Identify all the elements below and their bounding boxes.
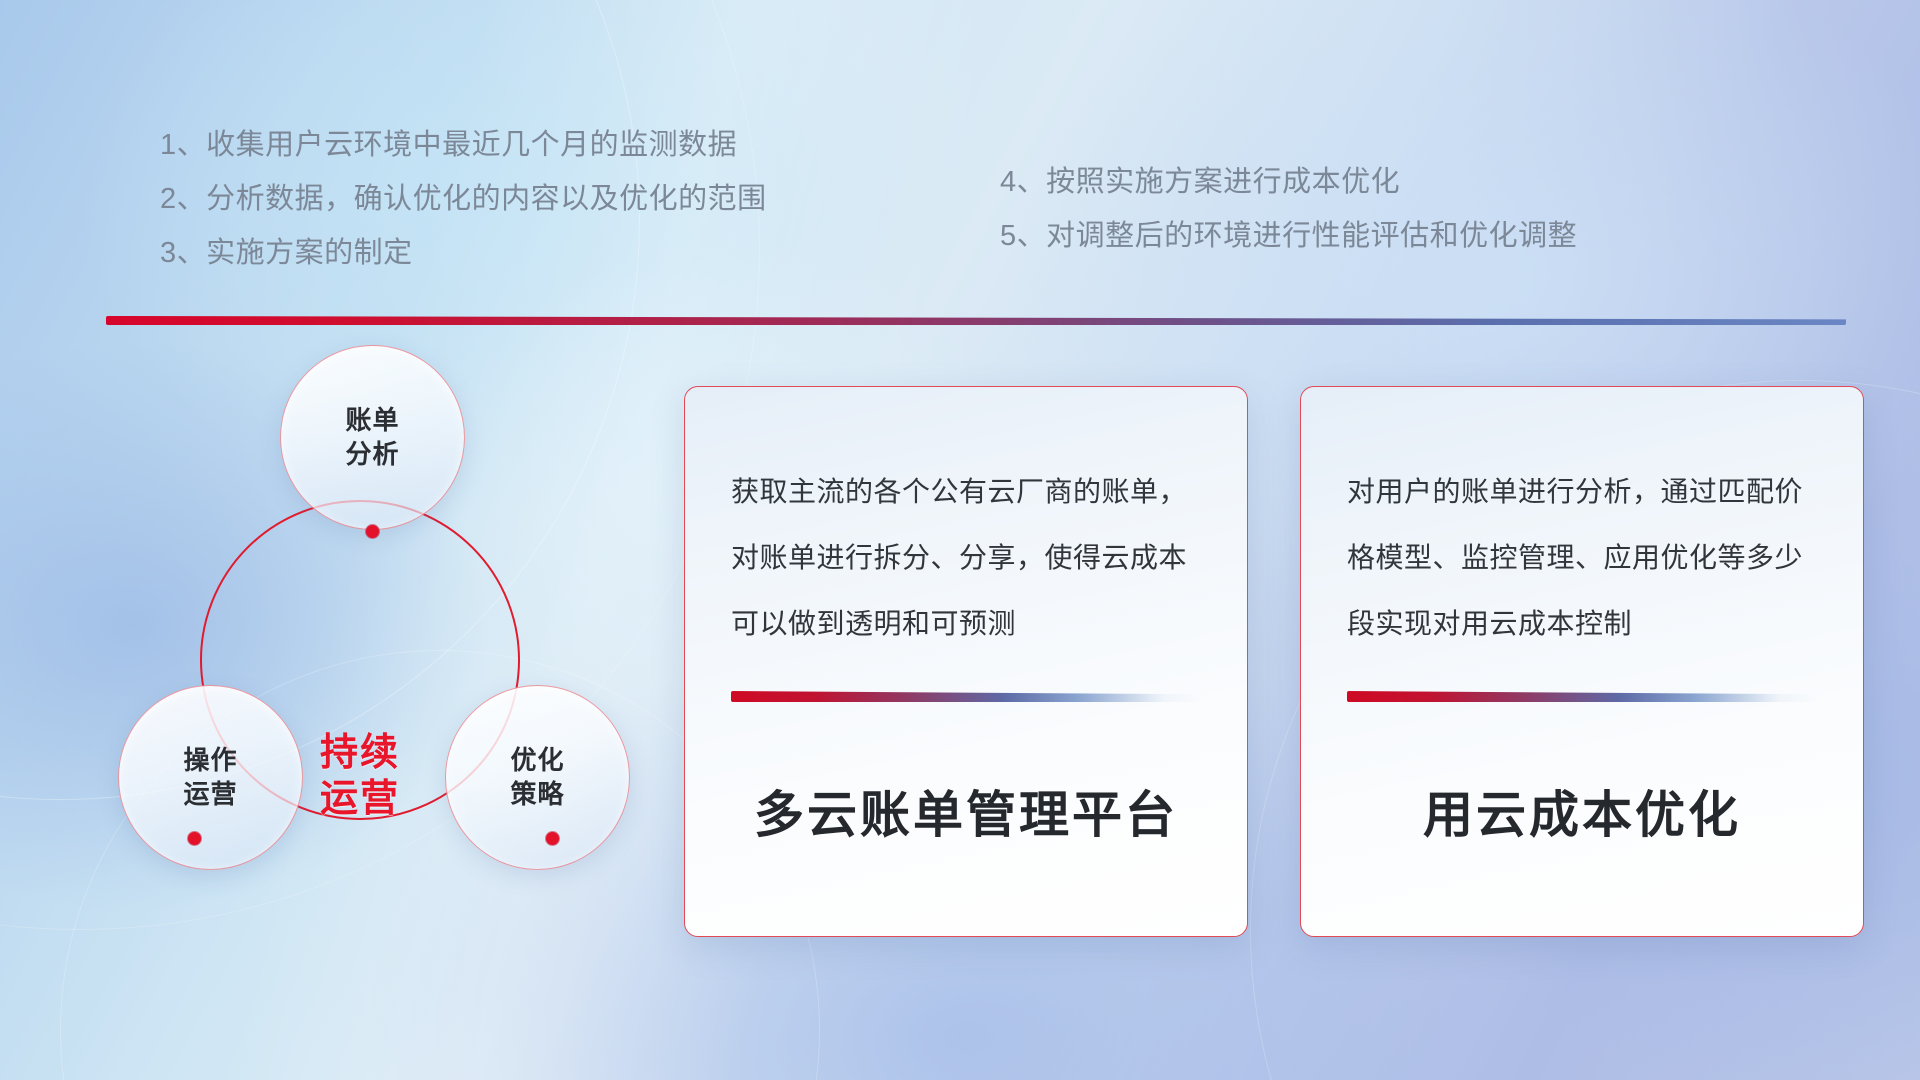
steps-left-column: 1、收集用户云环境中最近几个月的监测数据 2、分析数据，确认优化的内容以及优化的… (160, 118, 767, 280)
venn-node-dot-right (546, 832, 559, 845)
feature-cards: 获取主流的各个公有云厂商的账单，对账单进行拆分、分享，使得云成本可以做到透明和可… (684, 386, 1864, 946)
venn-bubble-operations[interactable]: 操作 运营 (118, 685, 303, 870)
venn-bubble-label: 操作 运营 (183, 744, 237, 811)
card-title: 多云账单管理平台 (685, 775, 1247, 847)
card-divider (731, 691, 1201, 702)
step-item: 4、按照实施方案进行成本优化 (1000, 155, 1577, 209)
venn-bubble-label: 优化 策略 (510, 744, 564, 811)
venn-bubble-label-line1: 操作 (183, 744, 237, 777)
venn-bubble-billing-analysis[interactable]: 账单 分析 (280, 345, 465, 530)
venn-bubble-label-line1: 优化 (510, 744, 564, 777)
step-item: 1、收集用户云环境中最近几个月的监测数据 (160, 118, 767, 172)
venn-node-dot-left (188, 832, 201, 845)
card-body-text: 获取主流的各个公有云厂商的账单，对账单进行拆分、分享，使得云成本可以做到透明和可… (731, 459, 1201, 657)
step-item: 2、分析数据，确认优化的内容以及优化的范围 (160, 172, 767, 226)
venn-node-dot-top (366, 525, 379, 538)
venn-bubble-label-line2: 分析 (345, 438, 399, 471)
venn-bubble-optimization-strategy[interactable]: 优化 策略 (445, 685, 630, 870)
venn-bubble-label: 账单 分析 (345, 404, 399, 471)
steps-right-column: 4、按照实施方案进行成本优化 5、对调整后的环境进行性能评估和优化调整 (1000, 155, 1577, 263)
card-divider-wedge (731, 691, 1201, 702)
venn-bubble-label-line2: 运营 (183, 778, 237, 811)
header-divider-bar (106, 316, 1846, 325)
card-multicloud-billing-platform[interactable]: 获取主流的各个公有云厂商的账单，对账单进行拆分、分享，使得云成本可以做到透明和可… (684, 386, 1248, 937)
venn-diagram: 持续 运营 账单 分析 操作 运营 优化 策略 (100, 345, 620, 955)
card-divider-wedge (1347, 691, 1817, 702)
card-body-text: 对用户的账单进行分析，通过匹配价格模型、监控管理、应用优化等多少段实现对用云成本… (1347, 459, 1817, 657)
card-title: 用云成本优化 (1301, 775, 1863, 847)
card-divider (1347, 691, 1817, 702)
venn-bubble-label-line1: 账单 (345, 404, 399, 437)
step-item: 5、对调整后的环境进行性能评估和优化调整 (1000, 209, 1577, 263)
card-cloud-cost-optimization[interactable]: 对用户的账单进行分析，通过匹配价格模型、监控管理、应用优化等多少段实现对用云成本… (1300, 386, 1864, 937)
process-steps: 1、收集用户云环境中最近几个月的监测数据 2、分析数据，确认优化的内容以及优化的… (0, 0, 1920, 300)
venn-bubble-label-line2: 策略 (510, 778, 564, 811)
header-divider-rule (106, 316, 1846, 325)
step-item: 3、实施方案的制定 (160, 226, 767, 280)
